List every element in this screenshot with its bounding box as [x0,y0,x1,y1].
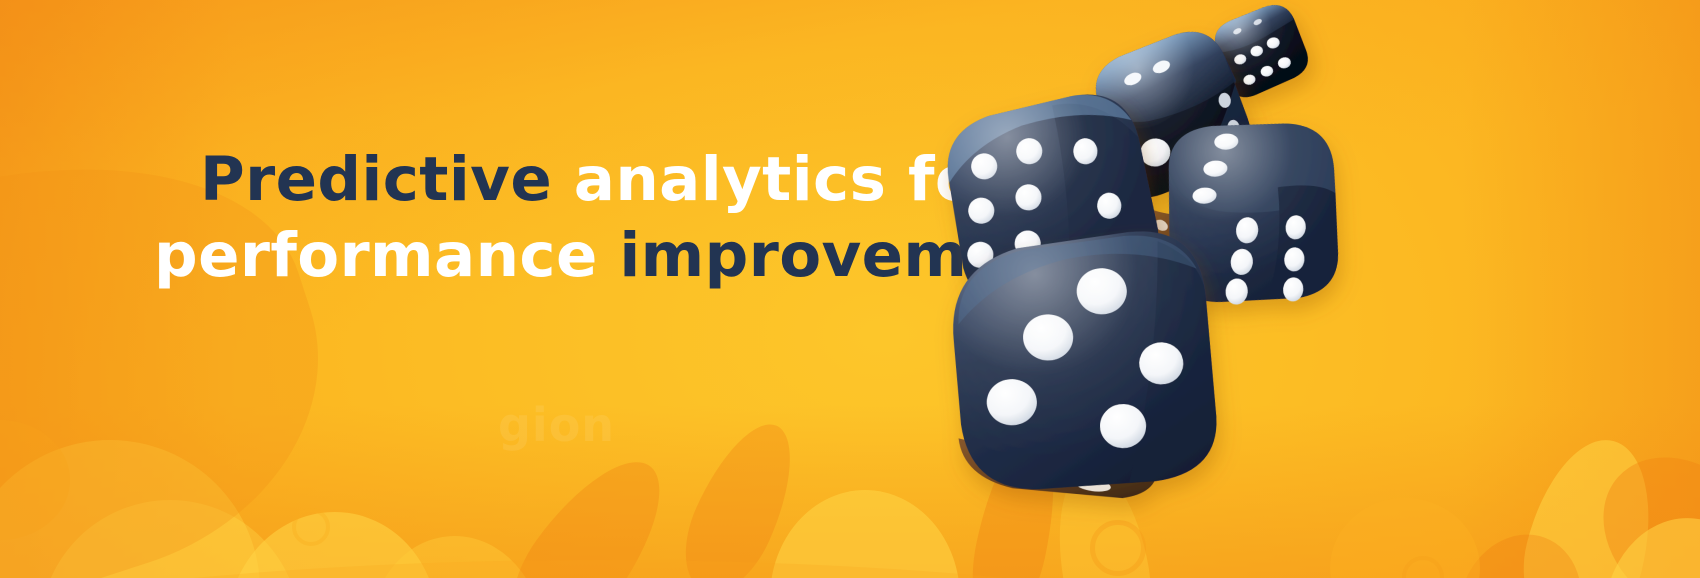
dice-illustration [900,0,1420,578]
dice-cluster-graphic [900,0,1420,578]
headline-line-2: performance improvement [152,218,972,294]
die-front-bottom [947,225,1223,501]
headline-line-1: Predictive analytics for [152,142,972,218]
headline-word-performance: performance [154,220,598,291]
headline: Predictive analytics for performance imp… [152,142,972,294]
headline-word-predictive: Predictive [200,144,552,215]
promo-banner: gion Predictive analytics for performanc… [0,0,1700,578]
